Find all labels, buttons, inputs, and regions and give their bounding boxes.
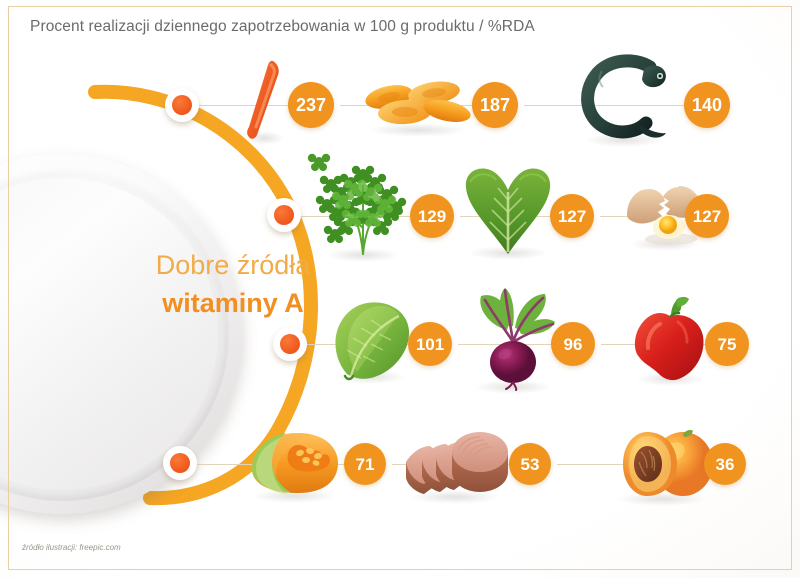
- value-badge[interactable]: 187: [472, 82, 518, 128]
- arc-node-dot[interactable]: [273, 327, 307, 361]
- value-badge[interactable]: 129: [410, 194, 454, 238]
- arc-node-dot[interactable]: [165, 88, 199, 122]
- value-badge[interactable]: 101: [408, 322, 452, 366]
- value-badge[interactable]: 71: [344, 443, 386, 485]
- plate-heading-line2: witaminy A: [118, 284, 348, 322]
- pumpkin-icon: [244, 429, 344, 499]
- plate-graphic: [0, 154, 254, 526]
- value-badge[interactable]: 140: [684, 82, 730, 128]
- value-badge[interactable]: 127: [550, 194, 594, 238]
- value-badge[interactable]: 237: [288, 82, 334, 128]
- eel-icon: [578, 55, 670, 143]
- plate-heading-line1: Dobre źródła: [118, 246, 348, 284]
- kale-icon: [460, 164, 556, 256]
- value-badge[interactable]: 53: [509, 443, 551, 485]
- value-badge[interactable]: 127: [685, 194, 729, 238]
- arc-node-dot[interactable]: [163, 446, 197, 480]
- dried-apricots-icon: [359, 77, 477, 133]
- carrot-icon: [240, 57, 288, 141]
- value-badge[interactable]: 75: [705, 322, 749, 366]
- parsley-icon: [319, 162, 407, 258]
- page-title: Procent realizacji dziennego zapotrzebow…: [30, 18, 535, 36]
- pate-icon: [400, 428, 510, 500]
- value-badge[interactable]: 36: [704, 443, 746, 485]
- arc-node-dot[interactable]: [267, 198, 301, 232]
- plate-heading: Dobre źródła witaminy A: [118, 246, 348, 323]
- infographic-canvas: Dobre źródła witaminy A Procent realizac…: [0, 0, 800, 578]
- beetroot-icon: [467, 286, 559, 390]
- source-credit: źródło ilustracji: freepic.com: [22, 543, 121, 552]
- spinach-icon: [327, 296, 413, 380]
- value-badge[interactable]: 96: [551, 322, 595, 366]
- red-pepper-icon: [630, 294, 710, 382]
- peach-icon: [609, 426, 715, 502]
